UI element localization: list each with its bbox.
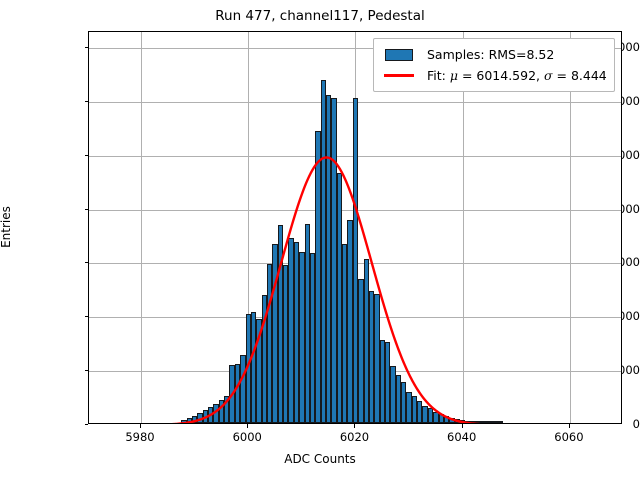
x-tick-mark [462, 424, 463, 428]
figure-canvas: Run 477, channel117, Pedestal Entries AD… [0, 0, 640, 480]
x-tick-label: 6060 [554, 430, 583, 444]
legend-label-samples: Samples: RMS=8.52 [427, 47, 554, 62]
x-axis-label: ADC Counts [0, 452, 640, 466]
y-axis-label: Entries [0, 206, 13, 248]
legend-patch-icon [380, 49, 418, 61]
x-tick-mark [247, 424, 248, 428]
legend-line-icon [380, 74, 418, 76]
gaussian-fit-curve [103, 157, 532, 423]
x-tick-label: 5980 [125, 430, 154, 444]
legend-item-samples: Samples: RMS=8.52 [380, 44, 607, 65]
x-tick-mark [140, 424, 141, 428]
x-tick-mark [354, 424, 355, 428]
legend-item-fit: Fit: μ = 6014.592, σ = 8.444 [380, 65, 607, 86]
legend-label-fit: Fit: μ = 6014.592, σ = 8.444 [427, 68, 607, 83]
page-title: Run 477, channel117, Pedestal [0, 8, 640, 24]
chart-legend: Samples: RMS=8.52 Fit: μ = 6014.592, σ =… [373, 38, 615, 92]
y-tick-mark [85, 424, 89, 425]
x-tick-mark [569, 424, 570, 428]
x-tick-label: 6020 [340, 430, 369, 444]
x-tick-label: 6000 [233, 430, 262, 444]
x-tick-label: 6040 [447, 430, 476, 444]
